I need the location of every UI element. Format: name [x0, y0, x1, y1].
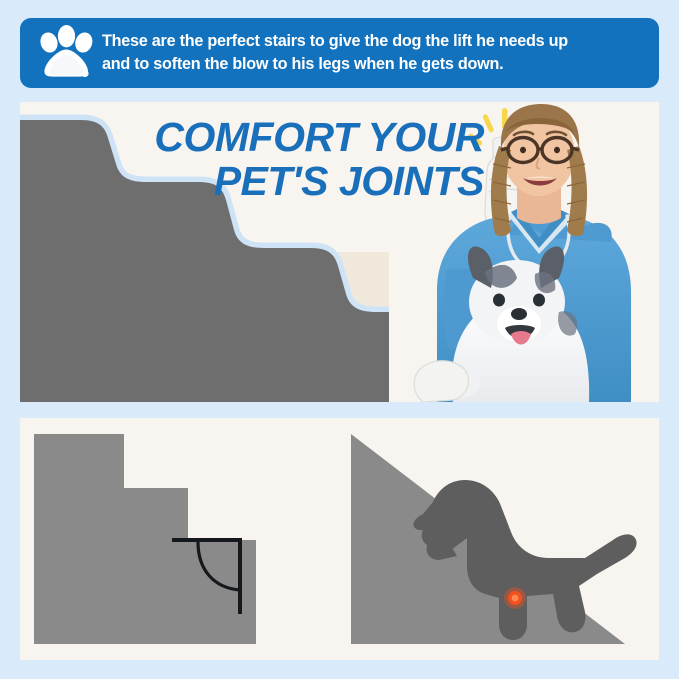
infographic-page: These are the perfect stairs to give the…: [0, 0, 679, 679]
paw-print-icon: [36, 24, 96, 82]
hero-panel: COMFORT YOUR PET'S JOINTS: [20, 102, 659, 402]
header-message: These are the perfect stairs to give the…: [102, 30, 568, 77]
painful-joint-dot: [504, 587, 526, 609]
sharp-step-stairs-figure: [20, 418, 320, 660]
header-banner: These are the perfect stairs to give the…: [20, 18, 659, 88]
bottom-comparison-panel: 90°: [20, 418, 659, 660]
page-title: COMFORT YOUR PET'S JOINTS: [116, 116, 484, 204]
steep-ramp-figure: [339, 418, 659, 660]
